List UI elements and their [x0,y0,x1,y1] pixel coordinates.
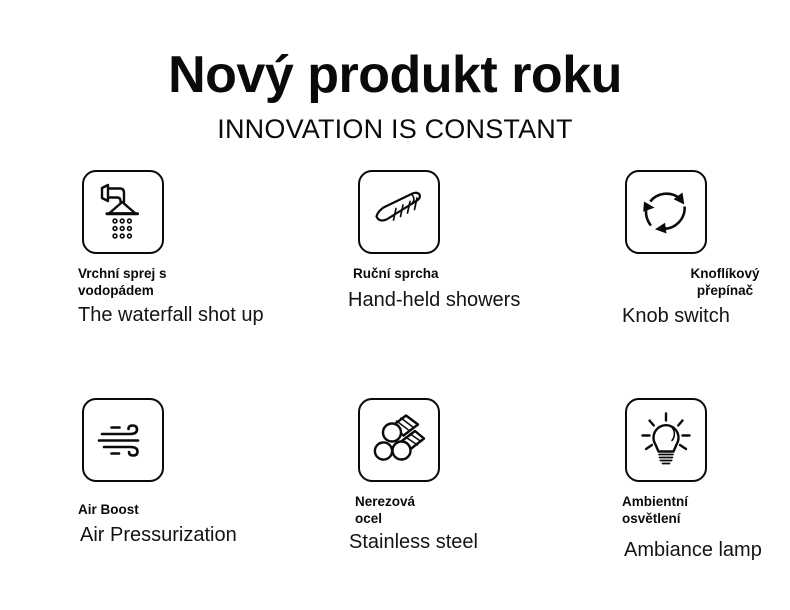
steel-pipes-icon [372,413,426,467]
icon-frame [625,170,707,254]
feature-labels: Ruční sprcha Hand-held showers [333,266,583,312]
feature-item: Knoflíkový přepínač Knob switch [600,170,790,328]
feature-label-en: Air Pressurization [80,523,320,547]
icon-frame [625,398,707,482]
feature-grid: Vrchní sprej s vodopádem The waterfall s… [0,170,790,610]
feature-label-en: Hand-held showers [348,288,583,312]
feature-labels: Air Boost Air Pressurization [70,502,320,547]
feature-item: Air Boost Air Pressurization [70,398,320,547]
feature-labels: Nerezová ocel Stainless steel [333,494,583,554]
page-title: Nový produkt roku [0,48,790,103]
rotation-arrows-icon [638,184,694,240]
feature-item: Vrchní sprej s vodopádem The waterfall s… [70,170,320,327]
feature-label-cs: Ambientní osvětlení [622,494,790,528]
light-bulb-icon [638,411,694,469]
feature-labels: Ambientní osvětlení Ambiance lamp [600,494,790,562]
icon-frame [358,398,440,482]
poster-header: Nový produkt roku INNOVATION IS CONSTANT [0,48,790,144]
feature-label-cs: Knoflíkový přepínač [600,266,790,300]
feature-label-en: Stainless steel [349,530,583,554]
icon-frame [82,398,164,482]
feature-label-cs: Vrchní sprej s vodopádem [78,266,320,300]
wind-icon [94,418,152,462]
feature-label-en: The waterfall shot up [78,303,320,327]
icon-frame [358,170,440,254]
shower-head-icon [94,182,152,242]
product-feature-poster: Nový produkt roku INNOVATION IS CONSTANT [0,0,790,610]
icon-frame [82,170,164,254]
feature-labels: Knoflíkový přepínač Knob switch [600,266,790,328]
handheld-shower-icon [370,186,428,238]
feature-label-cs: Ruční sprcha [353,266,583,283]
feature-label-en: Knob switch [600,304,790,328]
feature-label-en: Ambiance lamp [624,538,790,562]
feature-labels: Vrchní sprej s vodopádem The waterfall s… [70,266,320,327]
feature-label-cs: Nerezová ocel [355,494,583,528]
feature-label-cs: Air Boost [78,502,320,519]
feature-item: Ruční sprcha Hand-held showers [333,170,583,312]
page-subtitle: INNOVATION IS CONSTANT [0,115,790,145]
feature-item: Ambientní osvětlení Ambiance lamp [600,398,790,562]
feature-item: Nerezová ocel Stainless steel [333,398,583,554]
